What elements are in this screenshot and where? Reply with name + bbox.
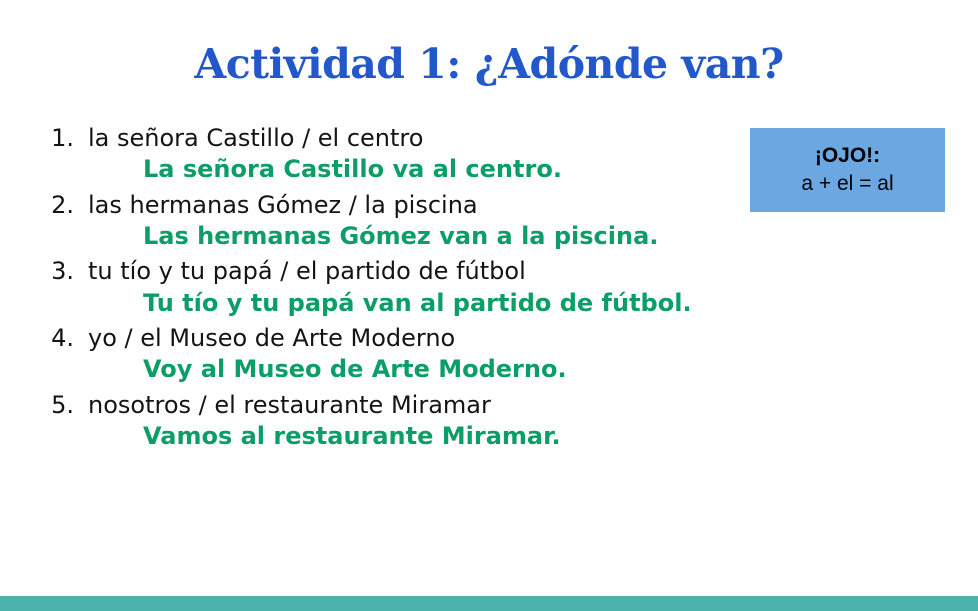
prompt-row: 5. nosotros / el restaurante Miramar xyxy=(36,391,736,419)
list-item: 4. yo / el Museo de Arte Moderno Voy al … xyxy=(36,324,736,384)
item-prompt: nosotros / el restaurante Miramar xyxy=(88,391,491,419)
prompt-row: 1. la señora Castillo / el centro xyxy=(36,124,736,152)
item-number: 2. xyxy=(36,191,88,219)
page-title: Actividad 1: ¿Adónde van? xyxy=(0,42,978,87)
item-answer: Las hermanas Gómez van a la piscina. xyxy=(143,222,736,250)
item-prompt: la señora Castillo / el centro xyxy=(88,124,423,152)
list-item: 2. las hermanas Gómez / la piscina Las h… xyxy=(36,191,736,251)
item-prompt: tu tío y tu papá / el partido de fútbol xyxy=(88,257,526,285)
item-number: 3. xyxy=(36,257,88,285)
item-number: 1. xyxy=(36,124,88,152)
slide-canvas: Actividad 1: ¿Adónde van? 1. la señora C… xyxy=(0,0,978,611)
ojo-callout-rule: a + el = al xyxy=(801,171,893,197)
list-item: 5. nosotros / el restaurante Miramar Vam… xyxy=(36,391,736,451)
item-prompt: yo / el Museo de Arte Moderno xyxy=(88,324,455,352)
exercise-list: 1. la señora Castillo / el centro La señ… xyxy=(36,124,736,457)
ojo-callout-title: ¡OJO!: xyxy=(815,143,880,169)
prompt-row: 3. tu tío y tu papá / el partido de fútb… xyxy=(36,257,736,285)
item-answer: Voy al Museo de Arte Moderno. xyxy=(143,355,736,383)
prompt-row: 2. las hermanas Gómez / la piscina xyxy=(36,191,736,219)
item-answer: Tu tío y tu papá van al partido de fútbo… xyxy=(143,289,736,317)
ojo-callout-box: ¡OJO!: a + el = al xyxy=(750,128,945,212)
item-answer: Vamos al restaurante Miramar. xyxy=(143,422,736,450)
item-number: 5. xyxy=(36,391,88,419)
list-item: 1. la señora Castillo / el centro La señ… xyxy=(36,124,736,184)
item-prompt: las hermanas Gómez / la piscina xyxy=(88,191,478,219)
footer-accent-bar xyxy=(0,596,978,611)
list-item: 3. tu tío y tu papá / el partido de fútb… xyxy=(36,257,736,317)
prompt-row: 4. yo / el Museo de Arte Moderno xyxy=(36,324,736,352)
item-number: 4. xyxy=(36,324,88,352)
item-answer: La señora Castillo va al centro. xyxy=(143,155,736,183)
